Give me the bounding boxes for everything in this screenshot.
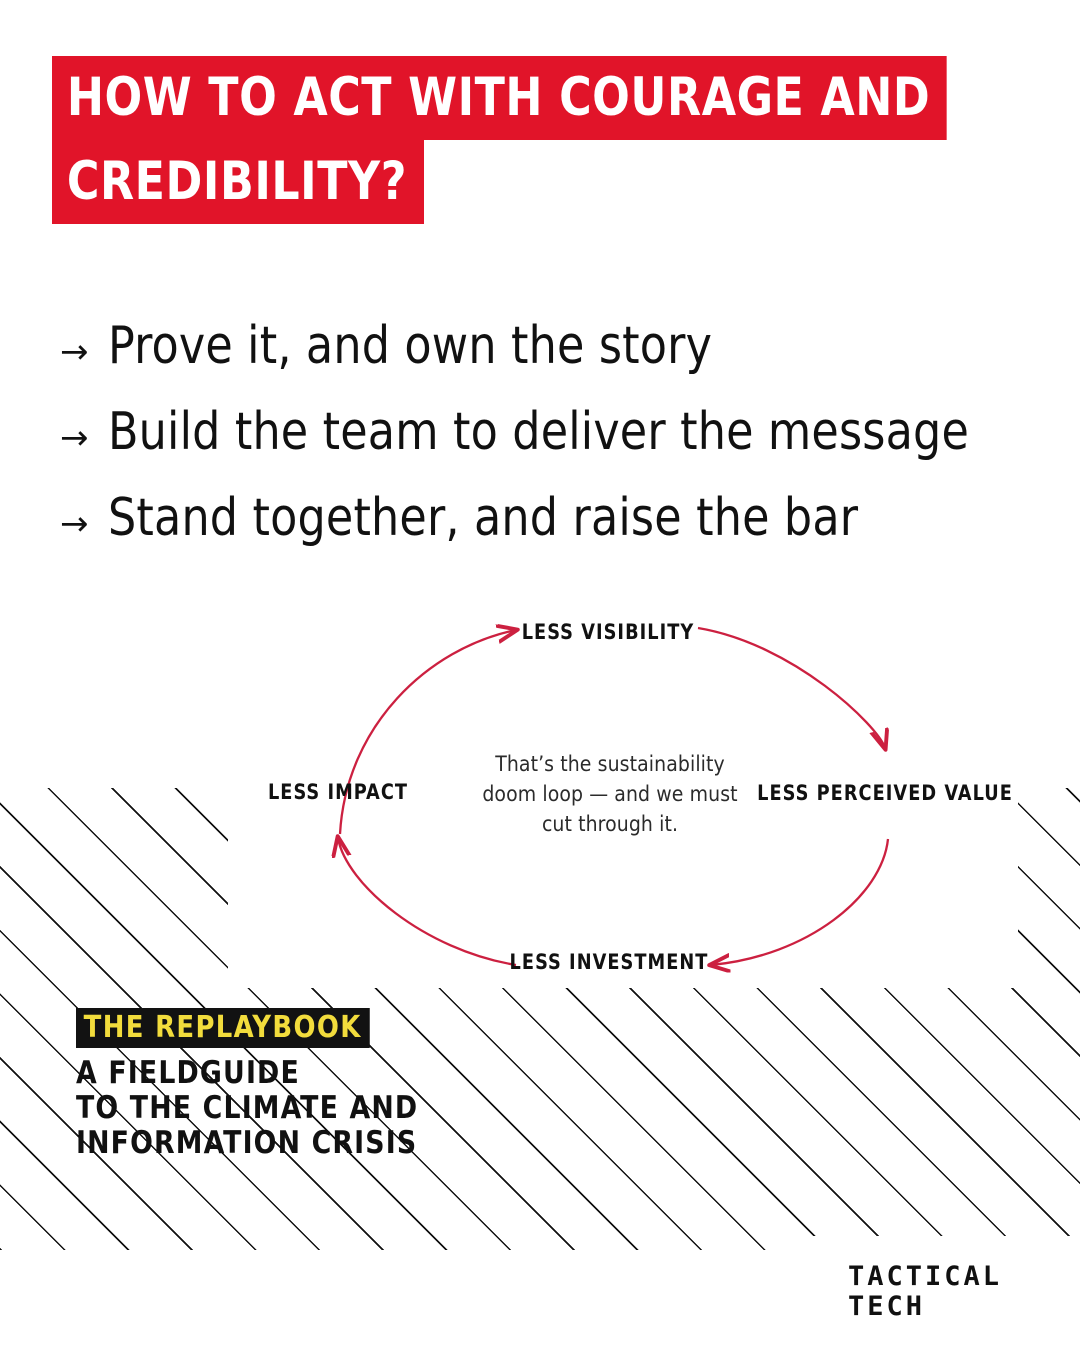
- brand-subtitle-line-2: TO THE CLIMATE AND: [76, 1091, 418, 1126]
- logo-line-1: TACTICAL: [848, 1262, 1002, 1292]
- node-less-perceived-value: LESS PERCEIVED VALUE: [757, 781, 1013, 805]
- arrow-right-icon: →: [60, 484, 108, 564]
- node-less-visibility: LESS VISIBILITY: [522, 620, 695, 644]
- brand-subtitle: A FIELDGUIDE TO THE CLIMATE AND INFORMAT…: [76, 1056, 418, 1161]
- list-item: → Build the team to deliver the message: [60, 392, 1040, 478]
- brand-subtitle-line-3: INFORMATION CRISIS: [76, 1126, 418, 1161]
- brand-title: THE REPLAYBOOK: [76, 1008, 369, 1048]
- arrow-right-icon: →: [60, 398, 108, 478]
- node-less-investment: LESS INVESTMENT: [510, 950, 709, 974]
- tactical-tech-logo: TACTICAL TECH: [848, 1262, 1002, 1322]
- list-item-label: Build the team to deliver the message: [108, 392, 969, 472]
- list-item: → Stand together, and raise the bar: [60, 478, 1040, 564]
- page-title: HOW TO ACT WITH COURAGE AND CREDIBILITY?: [52, 56, 932, 224]
- diagram-center-caption: That’s the sustainability doom loop — an…: [474, 749, 746, 839]
- doom-loop-diagram: LESS VISIBILITY LESS PERCEIVED VALUE LES…: [228, 596, 1018, 996]
- edge-visibility-to-value: [698, 628, 885, 748]
- action-list: → Prove it, and own the story → Build th…: [60, 306, 1040, 564]
- poster-canvas: HOW TO ACT WITH COURAGE AND CREDIBILITY?…: [0, 0, 1080, 1350]
- brand-block: THE REPLAYBOOK A FIELDGUIDE TO THE CLIMA…: [76, 1008, 433, 1161]
- page-title-line-1: HOW TO ACT WITH COURAGE AND: [52, 56, 947, 140]
- arrow-right-icon: →: [60, 312, 108, 392]
- list-item-label: Prove it, and own the story: [108, 306, 712, 386]
- node-less-impact: LESS IMPACT: [268, 780, 408, 804]
- page-title-line-2: CREDIBILITY?: [52, 140, 424, 224]
- brand-subtitle-line-1: A FIELDGUIDE: [76, 1056, 418, 1091]
- list-item-label: Stand together, and raise the bar: [108, 478, 858, 558]
- list-item: → Prove it, and own the story: [60, 306, 1040, 392]
- logo-line-2: TECH: [848, 1292, 1002, 1322]
- edge-value-to-investment: [711, 839, 888, 965]
- edge-investment-to-impact: [338, 838, 516, 965]
